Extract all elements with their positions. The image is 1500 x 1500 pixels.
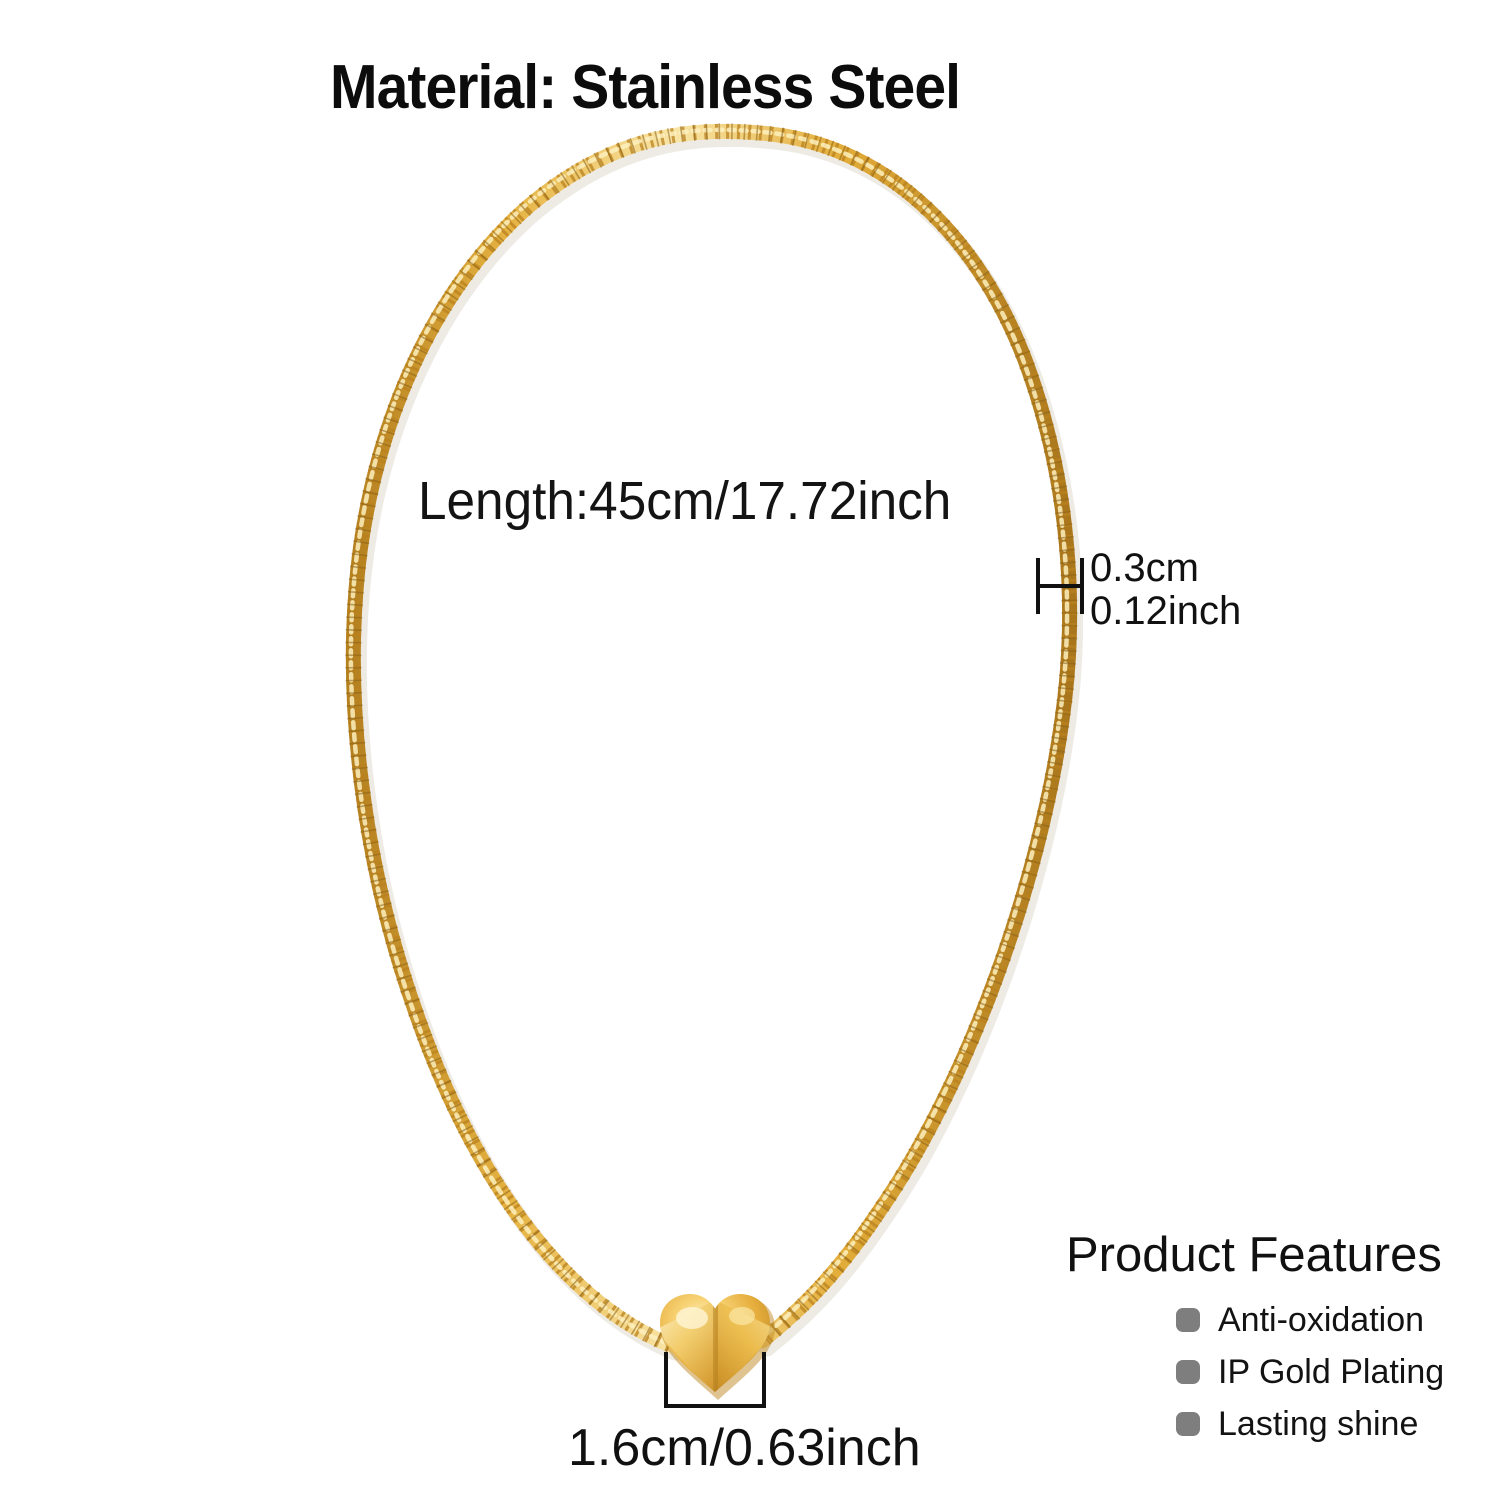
caliper-left-bar (664, 1352, 668, 1408)
chain-width-inch: 0.12inch (1090, 590, 1241, 633)
feature-label: Anti-oxidation (1218, 1301, 1424, 1340)
length-measurement-label: Length:45cm/17.72inch (418, 470, 951, 532)
caliper-span-line (1036, 584, 1084, 588)
caliper-right-bar (762, 1352, 766, 1408)
pendant-width-label: 1.6cm/0.63inch (568, 1418, 921, 1478)
bullet-icon (1176, 1308, 1200, 1332)
product-features-heading: Product Features (1066, 1228, 1486, 1282)
chain-width-label: 0.3cm 0.12inch (1090, 547, 1241, 633)
bullet-icon (1176, 1412, 1200, 1436)
caliper-span-line (664, 1404, 766, 1408)
feature-label: IP Gold Plating (1218, 1353, 1444, 1392)
pendant-width-caliper (664, 1352, 766, 1408)
list-item: IP Gold Plating (1066, 1346, 1486, 1398)
product-detail-image: Material: Stainless Steel (0, 0, 1500, 1500)
bullet-icon (1176, 1360, 1200, 1384)
list-item: Anti-oxidation (1066, 1294, 1486, 1346)
list-item: Lasting shine (1066, 1398, 1486, 1450)
feature-label: Lasting shine (1218, 1405, 1418, 1444)
product-features-list: Anti-oxidation IP Gold Plating Lasting s… (1066, 1294, 1486, 1450)
chain-width-caliper (1036, 558, 1084, 614)
product-features-panel: Product Features Anti-oxidation IP Gold … (1066, 1228, 1486, 1450)
chain-width-cm: 0.3cm (1090, 547, 1241, 590)
caliper-right-bar (1080, 558, 1084, 614)
